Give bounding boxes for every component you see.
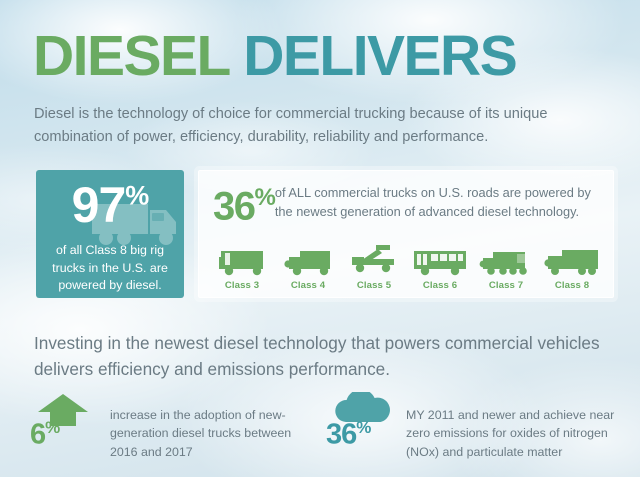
bottom-stat-value-b: 36% [326, 419, 406, 450]
class-item-8: Class 8 [539, 243, 605, 291]
stat-box-caption: of all Class 8 big rig trucks in the U.S… [44, 242, 176, 295]
page-title: DIESEL DELIVERS [33, 28, 516, 85]
infographic-page: DIESEL DELIVERS Diesel is the technology… [0, 0, 640, 477]
stat-box-percent: % [125, 180, 148, 210]
bottom-stat-icon-wrap-a: 6% [30, 392, 110, 458]
class-label-3: Class 3 [209, 280, 275, 291]
truck-class-row: Class 3 Class 4 [209, 243, 605, 291]
bottom-stat-arrow: 6% increase in the adoption of new-gener… [30, 392, 310, 461]
bucket-truck-icon [341, 243, 407, 277]
class-item-5: Class 5 [341, 243, 407, 291]
class-label-4: Class 4 [275, 280, 341, 291]
class-label-5: Class 5 [341, 280, 407, 291]
class-label-6: Class 6 [407, 280, 473, 291]
semi-truck-icon [539, 243, 605, 277]
class-item-4: Class 4 [275, 243, 341, 291]
class-label-8: Class 8 [539, 280, 605, 291]
bottom-stat-cloud: 36% MY 2011 and newer and achieve near z… [326, 392, 621, 461]
stat-box-97: 97% of all Class 8 big rig trucks in the… [36, 170, 184, 298]
panel-value: 36% [213, 182, 275, 226]
bottom-stat-value-a: 6% [30, 419, 110, 450]
panel-header-row: 36% of ALL commercial trucks on U.S. roa… [213, 182, 603, 226]
bottom-stat-description-b: MY 2011 and newer and achieve near zero … [406, 392, 621, 461]
class-label-7: Class 7 [473, 280, 539, 291]
school-bus-icon [407, 243, 473, 277]
bottom-stat-icon-wrap-b: 36% [326, 392, 406, 458]
stat-box-value: 97% [36, 180, 184, 230]
mid-statement: Investing in the newest diesel technolog… [34, 331, 624, 383]
box-truck-icon [275, 243, 341, 277]
class-item-6: Class 6 [407, 243, 473, 291]
bottom-stat-description-a: increase in the adoption of new-generati… [110, 392, 310, 461]
page-subtitle: Diesel is the technology of choice for c… [34, 103, 614, 148]
panel-36-percent: 36% of ALL commercial trucks on U.S. roa… [198, 170, 614, 298]
panel-percent: % [255, 184, 275, 211]
title-word-delivers: DELIVERS [243, 24, 516, 88]
step-van-icon [209, 243, 275, 277]
class-item-3: Class 3 [209, 243, 275, 291]
class-item-7: Class 7 [473, 243, 539, 291]
garbage-truck-icon [473, 243, 539, 277]
title-word-diesel: DIESEL [33, 24, 229, 88]
panel-description: of ALL commercial trucks on U.S. roads a… [275, 182, 603, 221]
